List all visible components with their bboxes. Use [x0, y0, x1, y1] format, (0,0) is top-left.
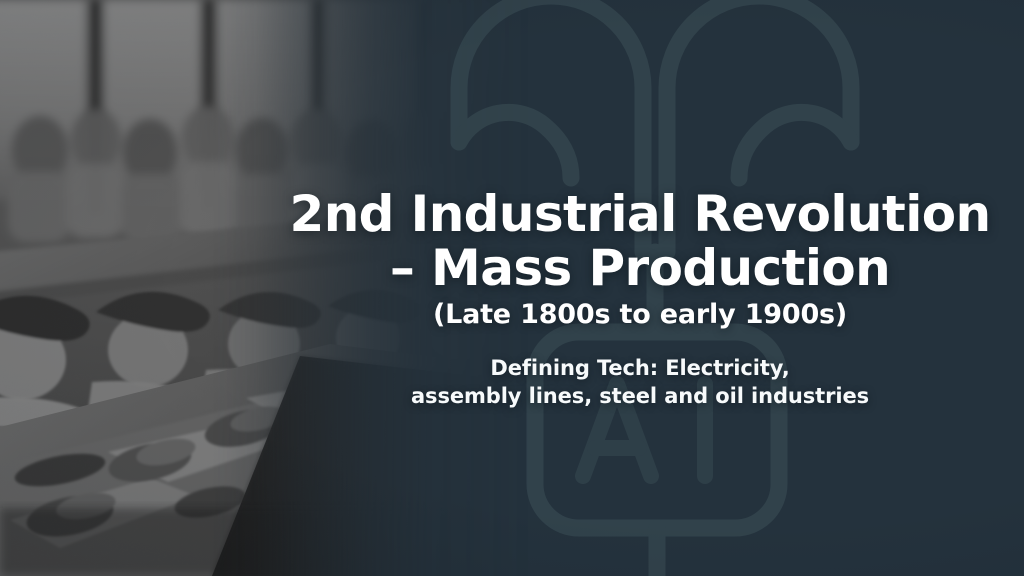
page-title-line-2: – Mass Production	[260, 240, 1020, 296]
description-text: Defining Tech: Electricity, assembly lin…	[260, 354, 1020, 410]
description-line-1: Defining Tech: Electricity,	[260, 354, 1020, 382]
slide-text-block: 2nd Industrial Revolution – Mass Product…	[260, 186, 1020, 410]
slide-canvas: 2nd Industrial Revolution – Mass Product…	[0, 0, 1024, 576]
description-line-2: assembly lines, steel and oil industries	[260, 382, 1020, 410]
page-title-line-1: 2nd Industrial Revolution	[260, 186, 1020, 242]
subtitle-period: (Late 1800s to early 1900s)	[260, 298, 1020, 332]
